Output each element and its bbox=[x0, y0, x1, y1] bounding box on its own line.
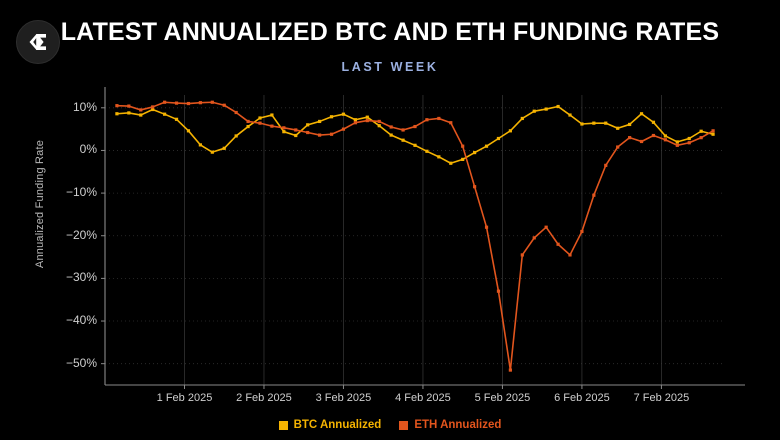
series-marker-eth bbox=[270, 125, 273, 128]
series-marker-eth bbox=[664, 138, 667, 141]
series-marker-btc bbox=[485, 145, 488, 148]
funding-rate-line-chart bbox=[0, 0, 780, 440]
series-marker-eth bbox=[580, 230, 583, 233]
series-marker-eth bbox=[115, 104, 118, 107]
y-axis-tick-label: −30% bbox=[37, 270, 97, 284]
series-marker-btc bbox=[592, 122, 595, 125]
y-axis-title: Annualized Funding Rate bbox=[34, 104, 46, 304]
y-axis-tick-label: −20% bbox=[37, 228, 97, 242]
series-marker-eth bbox=[175, 102, 178, 105]
series-marker-btc bbox=[461, 158, 464, 161]
series-marker-eth bbox=[330, 133, 333, 136]
series-marker-btc bbox=[115, 112, 118, 115]
series-marker-eth bbox=[366, 119, 369, 122]
series-marker-btc bbox=[270, 113, 273, 116]
x-axis-tick-label: 7 Feb 2025 bbox=[616, 392, 706, 404]
series-marker-btc bbox=[449, 162, 452, 165]
series-marker-btc bbox=[556, 105, 559, 108]
series-marker-btc bbox=[318, 120, 321, 123]
series-marker-btc bbox=[258, 116, 261, 119]
series-marker-eth bbox=[556, 243, 559, 246]
series-marker-btc bbox=[330, 115, 333, 118]
series-marker-eth bbox=[223, 104, 226, 107]
series-marker-btc bbox=[545, 107, 548, 110]
series-marker-btc bbox=[223, 147, 226, 150]
series-marker-eth bbox=[139, 108, 142, 111]
series-marker-eth bbox=[235, 111, 238, 114]
series-marker-btc bbox=[664, 134, 667, 137]
legend-label: ETH Annualized bbox=[414, 419, 501, 431]
series-marker-btc bbox=[580, 122, 583, 125]
series-marker-btc bbox=[366, 116, 369, 119]
series-marker-eth bbox=[282, 126, 285, 129]
series-marker-btc bbox=[127, 111, 130, 114]
series-marker-btc bbox=[246, 125, 249, 128]
series-marker-eth bbox=[211, 101, 214, 104]
series-marker-btc bbox=[211, 151, 214, 154]
series-marker-btc bbox=[497, 137, 500, 140]
y-axis-tick-label: −50% bbox=[37, 356, 97, 370]
series-marker-eth bbox=[258, 122, 261, 125]
series-marker-eth bbox=[640, 140, 643, 143]
series-marker-eth bbox=[473, 185, 476, 188]
series-marker-btc bbox=[306, 123, 309, 126]
series-marker-btc bbox=[628, 123, 631, 126]
series-marker-eth bbox=[509, 368, 512, 371]
series-marker-btc bbox=[652, 121, 655, 124]
series-marker-btc bbox=[378, 124, 381, 127]
series-marker-btc bbox=[139, 113, 142, 116]
series-marker-eth bbox=[401, 128, 404, 131]
series-marker-eth bbox=[163, 101, 166, 104]
series-marker-btc bbox=[425, 150, 428, 153]
series-marker-eth bbox=[700, 136, 703, 139]
series-marker-eth bbox=[688, 141, 691, 144]
series-marker-eth bbox=[461, 145, 464, 148]
series-marker-btc bbox=[163, 113, 166, 116]
series-marker-eth bbox=[485, 226, 488, 229]
series-marker-eth bbox=[342, 128, 345, 131]
series-marker-eth bbox=[413, 125, 416, 128]
series-marker-btc bbox=[509, 129, 512, 132]
series-marker-eth bbox=[533, 236, 536, 239]
series-marker-btc bbox=[175, 118, 178, 121]
series-marker-eth bbox=[199, 101, 202, 104]
series-marker-eth bbox=[306, 131, 309, 134]
series-marker-eth bbox=[318, 133, 321, 136]
series-marker-btc bbox=[187, 129, 190, 132]
x-axis-tick-label: 1 Feb 2025 bbox=[139, 392, 229, 404]
series-marker-btc bbox=[711, 133, 714, 136]
series-marker-eth bbox=[425, 118, 428, 121]
series-marker-eth bbox=[711, 129, 714, 132]
series-marker-btc bbox=[282, 130, 285, 133]
series-marker-btc bbox=[354, 118, 357, 121]
x-axis-tick-label: 5 Feb 2025 bbox=[457, 392, 547, 404]
series-marker-eth bbox=[378, 120, 381, 123]
series-marker-btc bbox=[640, 112, 643, 115]
series-marker-btc bbox=[401, 139, 404, 142]
legend-label: BTC Annualized bbox=[294, 419, 382, 431]
series-marker-eth bbox=[568, 253, 571, 256]
legend-swatch-icon bbox=[279, 421, 288, 430]
series-marker-eth bbox=[354, 121, 357, 124]
chart-plot-area: 10%0%−10%−20%−30%−40%−50% 1 Feb 20252 Fe… bbox=[0, 0, 780, 440]
series-marker-btc bbox=[390, 133, 393, 136]
y-axis-tick-label: −40% bbox=[37, 313, 97, 327]
series-marker-btc bbox=[342, 113, 345, 116]
series-marker-eth bbox=[294, 128, 297, 131]
series-marker-eth bbox=[437, 117, 440, 120]
series-marker-eth bbox=[616, 145, 619, 148]
series-marker-eth bbox=[497, 290, 500, 293]
series-marker-btc bbox=[473, 151, 476, 154]
series-marker-eth bbox=[592, 194, 595, 197]
series-marker-eth bbox=[151, 105, 154, 108]
series-marker-eth bbox=[652, 134, 655, 137]
series-marker-eth bbox=[521, 253, 524, 256]
legend-item-eth[interactable]: ETH Annualized bbox=[399, 419, 501, 431]
series-marker-eth bbox=[628, 136, 631, 139]
chart-screenshot: LATEST ANNUALIZED BTC AND ETH FUNDING RA… bbox=[0, 0, 780, 440]
series-marker-btc bbox=[437, 155, 440, 158]
y-axis-tick-label: 0% bbox=[37, 142, 97, 156]
x-axis-tick-label: 3 Feb 2025 bbox=[298, 392, 388, 404]
series-marker-btc bbox=[700, 130, 703, 133]
series-marker-eth bbox=[545, 226, 548, 229]
series-marker-btc bbox=[604, 122, 607, 125]
legend-swatch-icon bbox=[399, 421, 408, 430]
series-marker-btc bbox=[533, 110, 536, 113]
series-marker-btc bbox=[294, 134, 297, 137]
series-marker-btc bbox=[235, 134, 238, 137]
y-axis-tick-label: 10% bbox=[37, 100, 97, 114]
series-marker-eth bbox=[246, 120, 249, 123]
series-line-eth bbox=[117, 102, 713, 370]
x-axis-tick-label: 4 Feb 2025 bbox=[378, 392, 468, 404]
series-marker-eth bbox=[390, 125, 393, 128]
series-marker-eth bbox=[127, 104, 130, 107]
series-marker-eth bbox=[187, 102, 190, 105]
x-axis-tick-label: 2 Feb 2025 bbox=[219, 392, 309, 404]
series-marker-btc bbox=[676, 140, 679, 143]
series-marker-btc bbox=[688, 137, 691, 140]
y-axis-tick-label: −10% bbox=[37, 185, 97, 199]
series-marker-eth bbox=[604, 164, 607, 167]
series-marker-btc bbox=[413, 144, 416, 147]
series-marker-btc bbox=[568, 113, 571, 116]
x-axis-tick-label: 6 Feb 2025 bbox=[537, 392, 627, 404]
series-marker-btc bbox=[199, 143, 202, 146]
series-marker-eth bbox=[449, 121, 452, 124]
series-marker-btc bbox=[616, 127, 619, 130]
series-marker-eth bbox=[676, 144, 679, 147]
legend-item-btc[interactable]: BTC Annualized bbox=[279, 419, 382, 431]
series-marker-btc bbox=[521, 117, 524, 120]
chart-legend: BTC AnnualizedETH Annualized bbox=[0, 419, 780, 431]
series-line-btc bbox=[117, 107, 713, 164]
